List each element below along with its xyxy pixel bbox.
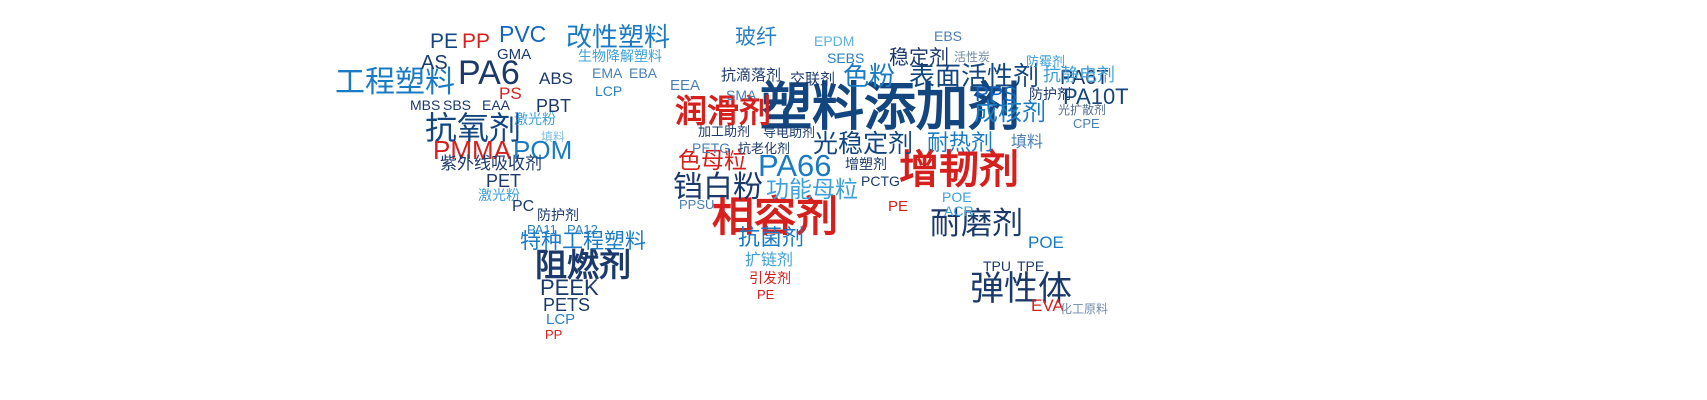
word-cloud-term[interactable]: 色粉 [843, 64, 895, 90]
word-cloud-term[interactable]: 导电助剂 [763, 127, 815, 140]
word-cloud-term[interactable]: SEBS [827, 51, 864, 65]
word-cloud-term[interactable]: PE [888, 199, 908, 214]
word-cloud-term[interactable]: 玻纤 [735, 27, 777, 48]
word-cloud-term[interactable]: 活性炭 [954, 51, 990, 63]
word-cloud-term[interactable]: EPDM [814, 34, 854, 48]
word-cloud-term[interactable]: PA11 [527, 223, 557, 236]
word-cloud-term[interactable]: EAA [482, 98, 510, 112]
word-cloud-canvas: 塑料添加剂相容剂增韧剂阻燃剂润滑剂弹性体耐磨剂铛白粉抗氧剂工程塑料PA6PA66… [0, 0, 1707, 400]
word-cloud-term[interactable]: 化工原料 [1060, 303, 1108, 315]
word-cloud-term[interactable]: AS [421, 53, 448, 73]
word-cloud-term[interactable]: 抗老化剂 [738, 143, 790, 156]
word-cloud-term[interactable]: SMA [726, 88, 756, 102]
word-cloud-term[interactable]: 填料 [541, 131, 565, 143]
word-cloud-term[interactable]: PVC [499, 23, 546, 46]
word-cloud-term[interactable]: 稳定剂 [889, 47, 949, 67]
word-cloud-term[interactable]: 改性塑料 [566, 25, 670, 51]
word-cloud-term[interactable]: CPE [1073, 117, 1100, 130]
word-cloud-term[interactable]: 扩链剂 [745, 252, 793, 268]
word-cloud-term[interactable]: PP [462, 31, 490, 52]
word-cloud-term[interactable]: 增韧剂 [899, 150, 1019, 190]
word-cloud-term[interactable]: PC [512, 199, 534, 215]
word-cloud-term[interactable]: LCP [595, 84, 622, 98]
word-cloud-term[interactable]: PE [757, 288, 774, 301]
word-cloud-term[interactable]: 光稳定剂 [813, 131, 913, 156]
word-cloud-term[interactable]: ACR [944, 204, 974, 218]
word-cloud-term[interactable]: EBS [934, 29, 962, 43]
word-cloud-term[interactable]: EVA [1031, 297, 1064, 314]
word-cloud-term[interactable]: PPS [975, 84, 1017, 105]
word-cloud-term[interactable]: 抗菌剂 [738, 228, 804, 250]
word-cloud-term[interactable]: EBA [629, 66, 657, 80]
word-cloud-term[interactable]: TPU [983, 259, 1011, 273]
word-cloud-term[interactable]: 防霉剂 [1026, 56, 1065, 69]
word-cloud-term[interactable]: PCTG [861, 174, 900, 188]
word-cloud-term[interactable]: PETG [692, 141, 730, 155]
word-cloud-term[interactable]: EMA [592, 66, 622, 80]
word-cloud-term[interactable]: 加工助剂 [698, 126, 750, 139]
word-cloud-term[interactable]: 引发剂 [749, 272, 791, 286]
word-cloud-term[interactable]: 功能母粒 [766, 179, 858, 202]
word-cloud-term[interactable]: PPSU [679, 198, 714, 211]
word-cloud-term[interactable]: POE [1028, 234, 1064, 251]
word-cloud-term[interactable]: 交联剂 [790, 72, 835, 87]
word-cloud-term[interactable]: POE [942, 190, 972, 204]
word-cloud-term[interactable]: 抗滴落剂 [721, 68, 781, 83]
word-cloud-term[interactable]: SBS [443, 98, 471, 112]
word-cloud-term[interactable]: 增塑剂 [845, 158, 887, 172]
word-cloud-term[interactable]: EEA [670, 78, 700, 93]
word-cloud-term[interactable]: 生物降解塑料 [578, 50, 662, 64]
word-cloud-term[interactable]: 耐热剂 [927, 133, 993, 155]
word-cloud-term[interactable]: TPE [1017, 259, 1044, 273]
word-cloud-term[interactable]: 激光粉 [514, 113, 556, 127]
word-cloud-term[interactable]: LCP [546, 312, 575, 327]
word-cloud-term[interactable]: 防护剂 [537, 209, 579, 223]
word-cloud-term[interactable]: 光扩散剂 [1058, 104, 1106, 116]
word-cloud-term[interactable]: 防护剂 [1029, 88, 1071, 102]
word-cloud-term[interactable]: ABS [539, 70, 573, 87]
word-cloud-term[interactable]: 润滑剂 [675, 95, 771, 127]
word-cloud-term[interactable]: PA12 [567, 223, 598, 236]
word-cloud-term[interactable]: MBS [410, 98, 440, 112]
word-cloud-term[interactable]: PE [430, 31, 458, 52]
word-cloud-term[interactable]: PP [545, 328, 562, 341]
word-cloud-term[interactable]: 填料 [1011, 134, 1043, 150]
word-cloud-term[interactable]: GMA [497, 47, 531, 62]
